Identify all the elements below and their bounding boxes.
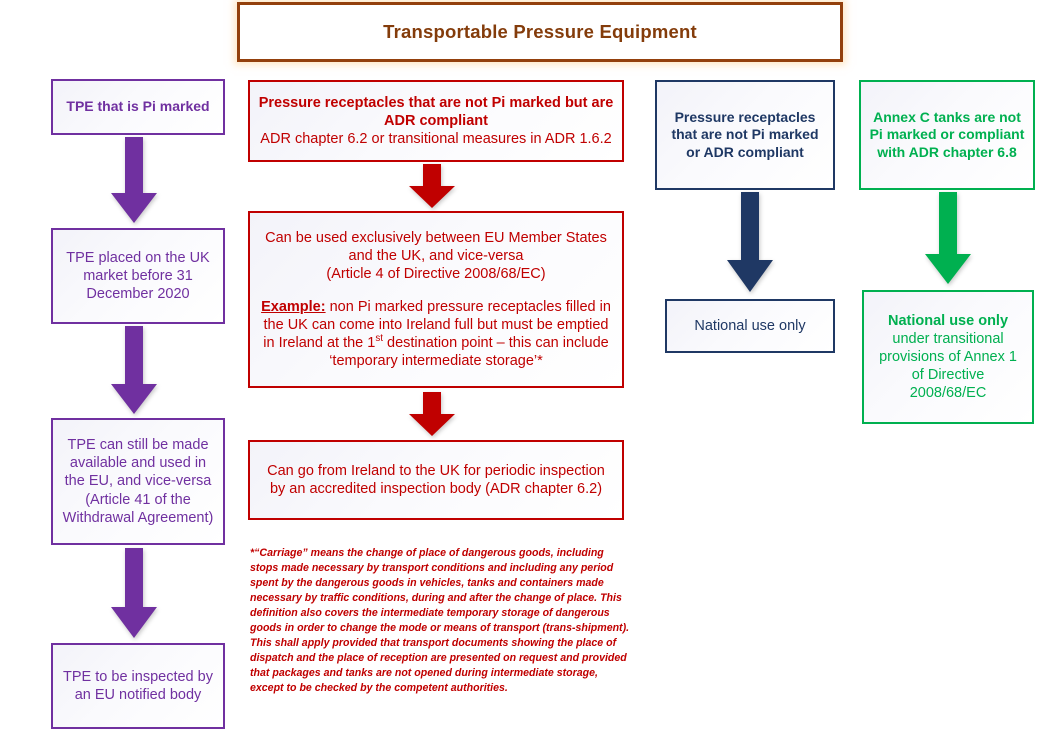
red-box-not-pi-but-adr-compliant[interactable]: Pressure receptacles that are not Pi mar… [248, 80, 624, 162]
green-box-1-text: Annex C tanks are not Pi marked or compl… [861, 109, 1033, 162]
purple-box-2-text: TPE placed on the UK market before 31 De… [53, 249, 223, 303]
purple-box-eu-vice-versa[interactable]: TPE can still be made available and used… [51, 418, 225, 545]
red-box-1-heading: Pressure receptacles that are not Pi mar… [258, 94, 614, 130]
green-arrow-1 [925, 192, 971, 284]
red-box-2-line-2: and the UK, and vice-versa [258, 247, 614, 265]
red-box-1-subtext: ADR chapter 6.2 or transitional measures… [258, 130, 614, 148]
green-box-2-content: National use only under transitional pro… [864, 312, 1032, 403]
chart-title-text: Transportable Pressure Equipment [240, 20, 840, 43]
red-box-1-content: Pressure receptacles that are not Pi mar… [250, 94, 622, 148]
purple-arrow-1 [111, 137, 157, 223]
red-box-2-example-ordinal: st [375, 333, 383, 344]
purple-arrow-2 [111, 326, 157, 414]
red-box-2-line-3: (Article 4 of Directive 2008/68/EC) [258, 265, 614, 283]
red-box-eu-uk-exclusive-use[interactable]: Can be used exclusively between EU Membe… [248, 211, 624, 388]
navy-box-not-pi-not-adr[interactable]: Pressure receptacles that are not Pi mar… [655, 80, 835, 190]
red-arrow-1 [409, 164, 455, 208]
red-box-3-text: Can go from Ireland to the UK for period… [250, 462, 622, 498]
footnote-carriage-definition: *“Carriage” means the change of place of… [250, 546, 630, 696]
flowchart-canvas: Transportable Pressure Equipment TPE tha… [0, 0, 1043, 729]
chart-title-box: Transportable Pressure Equipment [237, 2, 843, 62]
navy-box-2-text: National use only [667, 317, 833, 335]
purple-box-3-text: TPE can still be made available and used… [53, 436, 223, 527]
red-box-2-content: Can be used exclusively between EU Membe… [250, 229, 622, 371]
navy-box-1-text: Pressure receptacles that are not Pi mar… [657, 109, 833, 162]
purple-box-eu-notified-body[interactable]: TPE to be inspected by an EU notified bo… [51, 643, 225, 729]
green-box-annex-c-tanks[interactable]: Annex C tanks are not Pi marked or compl… [859, 80, 1035, 190]
purple-box-4-text: TPE to be inspected by an EU notified bo… [53, 668, 223, 704]
navy-arrow-1 [727, 192, 773, 292]
green-box-2-rest: under transitional provisions of Annex 1… [879, 331, 1017, 401]
navy-box-national-use-only[interactable]: National use only [665, 299, 835, 353]
red-box-periodic-inspection[interactable]: Can go from Ireland to the UK for period… [248, 440, 624, 520]
purple-box-tpe-pi-marked[interactable]: TPE that is Pi marked [51, 79, 225, 135]
red-box-2-line-1: Can be used exclusively between EU Membe… [258, 229, 614, 247]
green-box-2-strong: National use only [888, 313, 1008, 329]
red-box-2-example-label: Example: [261, 299, 325, 315]
purple-box-1-text: TPE that is Pi marked [53, 98, 223, 116]
purple-box-uk-market-2020[interactable]: TPE placed on the UK market before 31 De… [51, 228, 225, 324]
purple-arrow-3 [111, 548, 157, 638]
red-box-2-spacer [258, 283, 614, 298]
green-box-national-use-transitional[interactable]: National use only under transitional pro… [862, 290, 1034, 424]
red-arrow-2 [409, 392, 455, 436]
red-box-2-example: Example: non Pi marked pressure receptac… [258, 298, 614, 371]
